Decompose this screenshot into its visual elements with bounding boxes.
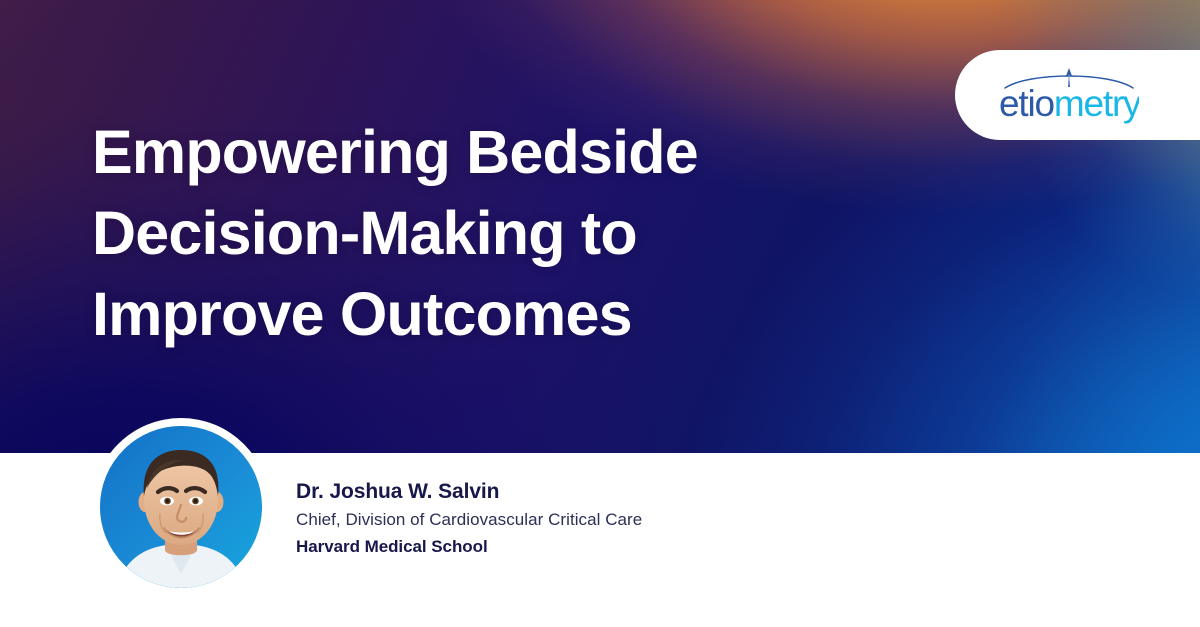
logo-text-etio: etio bbox=[999, 83, 1054, 124]
speaker-details: Dr. Joshua W. Salvin Chief, Division of … bbox=[296, 478, 642, 560]
avatar bbox=[92, 418, 270, 596]
headline-line-2: Decision-Making to bbox=[92, 193, 852, 274]
logo-text-metry: metry bbox=[1054, 83, 1139, 124]
etiometry-logo: etiometry bbox=[999, 66, 1139, 124]
speaker-name: Dr. Joshua W. Salvin bbox=[296, 478, 642, 506]
speaker-role: Chief, Division of Cardiovascular Critic… bbox=[296, 506, 642, 533]
svg-text:etiometry: etiometry bbox=[999, 83, 1139, 124]
slide-headline: Empowering Bedside Decision-Making to Im… bbox=[92, 112, 852, 355]
headline-line-3: Improve Outcomes bbox=[92, 274, 852, 355]
headshot-illustration bbox=[100, 426, 262, 588]
speaker-organization: Harvard Medical School bbox=[296, 533, 642, 560]
arc-with-needle-icon: etiometry bbox=[999, 66, 1139, 124]
presentation-title-slide: Empowering Bedside Decision-Making to Im… bbox=[0, 0, 1200, 627]
headline-line-1: Empowering Bedside bbox=[92, 112, 852, 193]
speaker-headshot-avatar bbox=[100, 426, 262, 588]
brand-logo-badge: etiometry bbox=[955, 50, 1200, 140]
